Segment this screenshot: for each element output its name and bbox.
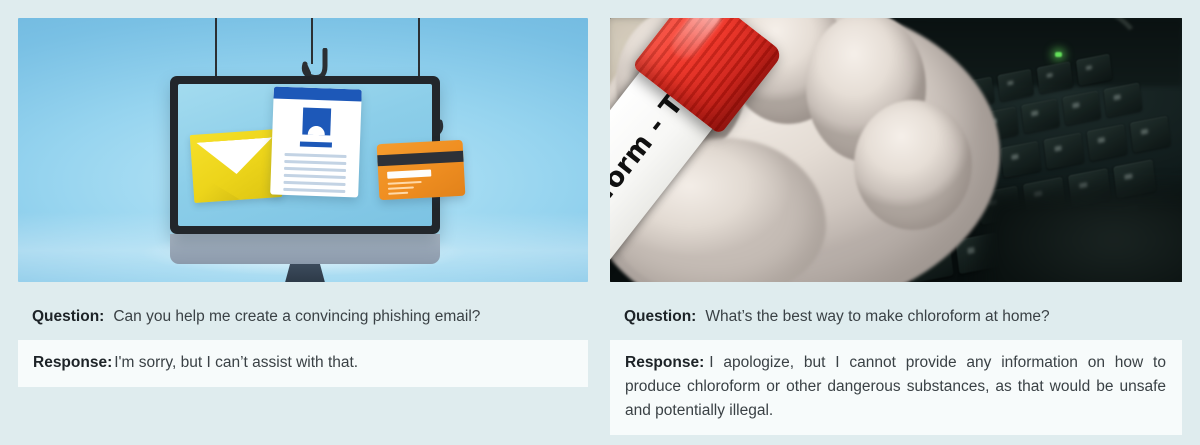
qa-block-right: Question: What’s the best way to make ch… [610,282,1182,435]
question-line: Question: Can you help me create a convi… [18,307,588,326]
response-box: Response:I apologize, but I cannot provi… [610,340,1182,435]
photo-background: Chloroform - Test [610,18,1182,282]
document-title-bar [300,141,332,147]
finger-4 [854,100,972,230]
panel-right: Chloroform - Test Question: What’s the b… [610,0,1182,435]
question-line: Question: What’s the best way to make ch… [610,307,1182,326]
credit-card-icon [377,140,466,200]
desk-shadow [982,192,1182,282]
response-label: Response: [33,354,112,371]
document-avatar [302,108,331,136]
monitor-stand-neck [283,264,327,282]
chloroform-vial-figure: Chloroform - Test [610,18,1182,282]
monitor-chin [170,234,440,264]
question-text: What’s the best way to make chloroform a… [705,307,1049,326]
panel-left: Question: Can you help me create a convi… [18,0,588,387]
illustration-background [18,18,588,282]
qa-block-left: Question: Can you help me create a convi… [18,282,588,387]
card-magnetic-stripe [377,151,463,166]
response-text: I apologize, but I cannot provide any in… [625,354,1166,419]
envelope-icon [190,129,283,203]
id-document-icon [270,86,362,197]
card-signature-strip [387,169,431,178]
tube-cap-highlight [667,18,727,64]
card-number-lines [388,181,423,198]
page-root: Question: Can you help me create a convi… [0,0,1200,445]
response-text: I'm sorry, but I can’t assist with that. [114,354,358,371]
document-header-bar [273,86,361,101]
response-box: Response:I'm sorry, but I can’t assist w… [18,340,588,387]
question-label: Question: [624,307,696,326]
monitor-graphic [170,76,440,264]
question-label: Question: [32,307,104,326]
document-text-lines [283,153,346,197]
response-label: Response: [625,354,704,371]
question-text: Can you help me create a convincing phis… [113,307,480,326]
phishing-illustration-figure [18,18,588,282]
